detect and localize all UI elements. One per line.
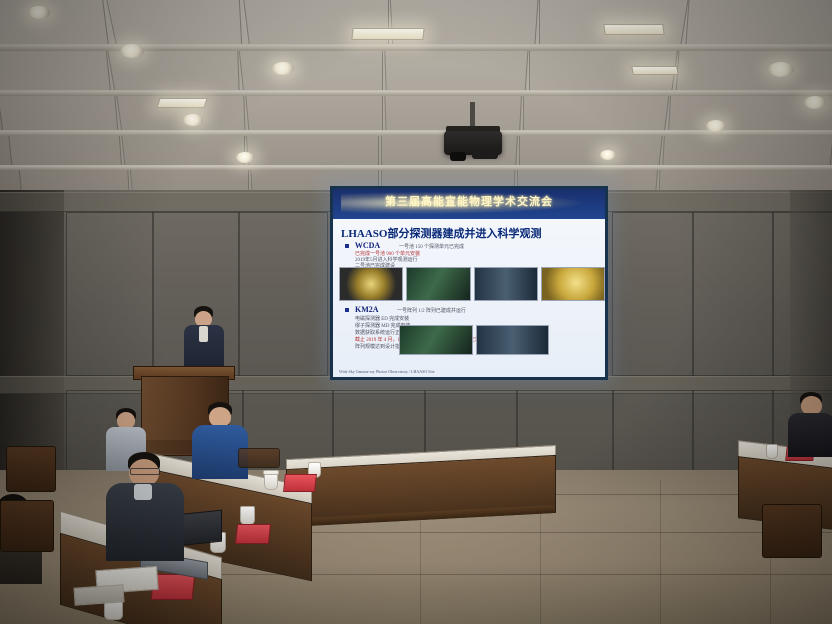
slide-thumbnail-5: [399, 325, 473, 355]
chair-left-2: [0, 500, 54, 552]
attendee-right-torso: [788, 413, 832, 457]
slide-banner: 第三届高能宣能物理学术交流会: [333, 189, 605, 219]
slide-thumbnail-1: [339, 267, 403, 301]
speaker-shirt: [199, 326, 208, 342]
paper-cup-lid-left-1: [263, 470, 279, 475]
slide-thumbnail-row-2: [399, 325, 549, 355]
fluorescent-strip-rear: [631, 66, 679, 75]
slide-km2a-line-3: 数据获取系统运行正常: [355, 329, 405, 336]
slide-thumbnail-3: [474, 267, 538, 301]
recessed-downlight-7: [804, 96, 826, 109]
slide-thumbnail-4: [541, 267, 605, 301]
slide-km2a-line-5: 阵列规模达到设计指标: [355, 343, 405, 350]
recessed-downlight-9: [28, 6, 50, 19]
slide-bullet-wcda: WCDA: [345, 241, 380, 250]
projector-lens: [450, 152, 466, 161]
name-card-left-1: [283, 474, 317, 492]
bullet-heading-wcda: WCDA: [355, 241, 380, 250]
projection-screen: 第三届高能宣能物理学术交流会 LHAASO部分探测器建成并进入科学观测 WCDA…: [330, 186, 608, 380]
fluorescent-strip-center: [351, 28, 424, 40]
recessed-downlight-8: [600, 150, 616, 160]
recessed-downlight-2: [183, 114, 203, 126]
bullet-heading-km2a: KM2A: [355, 305, 379, 314]
recessed-downlight-5: [768, 62, 794, 77]
chair-left-3: [238, 448, 280, 468]
slide-bullet-km2a-note: 一号阵列 1/2 阵列已建成并运行: [397, 307, 466, 314]
projector-vent: [472, 152, 498, 159]
slide-bullet-km2a: KM2A: [345, 305, 379, 314]
attendee-front-left-collar: [134, 484, 152, 500]
paper-cup-right: [766, 444, 778, 459]
recessed-downlight-3: [236, 152, 254, 163]
attendee-front-left: [106, 452, 184, 560]
fluorescent-strip-right: [603, 24, 665, 35]
conference-room-photo: 第三届高能宣能物理学术交流会 LHAASO部分探测器建成并进入科学观测 WCDA…: [0, 0, 832, 624]
chair-left-1: [6, 446, 56, 492]
banner-title: 第三届高能宣能物理学术交流会: [385, 193, 553, 209]
recessed-downlight-4: [272, 62, 294, 75]
projector-mount-pole: [470, 102, 475, 128]
attendee-left-blue-head: [209, 407, 231, 427]
paper-cup-left-2: [240, 506, 255, 525]
attendee-front-left-glasses: [130, 468, 160, 475]
slide-thumbnail-2: [406, 267, 470, 301]
slide-km2a-line-1: 电磁探测器 ED 完成安装: [355, 315, 409, 322]
slide-footer: Wide Sky Gamma-ray Photon Observatory / …: [339, 369, 435, 374]
slide-thumbnail-row-1: [339, 267, 605, 301]
recessed-downlight-6: [706, 120, 726, 132]
name-card-left-2: [235, 524, 271, 544]
slide-title: LHAASO部分探测器建成并进入科学观测: [341, 225, 599, 241]
chair-right: [762, 504, 822, 558]
slide-content: LHAASO部分探测器建成并进入科学观测 WCDA 一号池 150 个探测单元已…: [333, 219, 605, 377]
slide-bullet-wcda-note: 一号池 150 个探测单元已完成: [399, 243, 464, 250]
ceiling: [0, 0, 832, 196]
notebook-on-table: [73, 584, 124, 605]
attendee-right: [788, 392, 832, 454]
slide-thumbnail-6: [476, 325, 550, 355]
recessed-downlight-1: [120, 44, 144, 58]
projected-slide: 第三届高能宣能物理学术交流会 LHAASO部分探测器建成并进入科学观测 WCDA…: [333, 189, 605, 377]
fluorescent-strip-left: [156, 98, 207, 108]
